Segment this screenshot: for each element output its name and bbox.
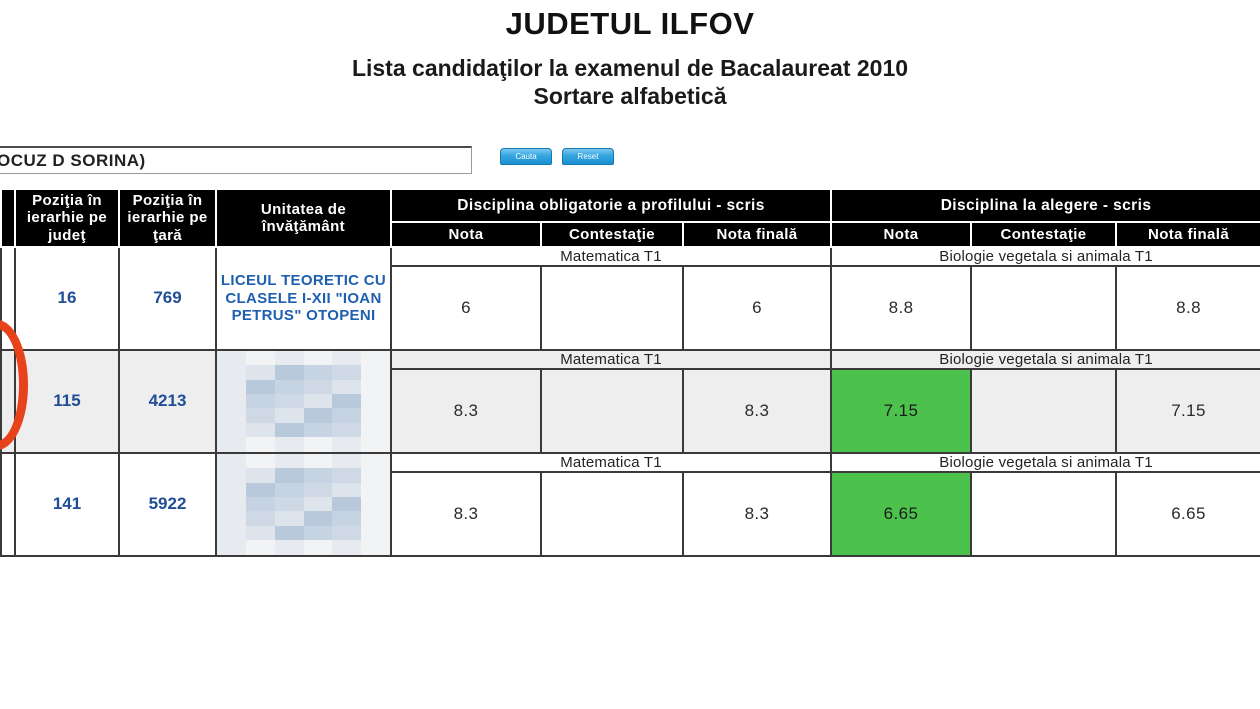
cell-optional-nota: 6.65: [831, 472, 971, 556]
redaction-mosaic: [217, 351, 390, 452]
cell-mandatory-nota: 8.3: [391, 472, 541, 556]
cell-optional-nota-finala: 7.15: [1116, 369, 1260, 453]
cell-mandatory-nota-finala: 8.3: [683, 369, 831, 453]
cell-mandatory-subject: Matematica T1: [391, 350, 831, 369]
cell-optional-contestatie: [971, 369, 1116, 453]
cell-rank-country: 5922: [119, 453, 216, 556]
header-mandatory-nota-finala[interactable]: Nota finală: [683, 222, 831, 246]
cell-mandatory-contestatie: [541, 266, 683, 350]
cell-mandatory-subject: Matematica T1: [391, 453, 831, 472]
cell-school[interactable]: LICEUL TEORETIC CU CLASELE I-XII "IOAN P…: [216, 247, 391, 350]
header-group-optional: Disciplina la alegere - scris: [831, 189, 1260, 222]
results-table: Poziţia în ierarhie pe judeţ Poziţia în …: [0, 188, 1260, 557]
cell-optional-nota: 7.15: [831, 369, 971, 453]
reset-button-label: Reset: [563, 149, 613, 164]
header-mandatory-contestatie[interactable]: Contestaţie: [541, 222, 683, 246]
page-subtitle-line1: Lista candidaţilor la examenul de Bacala…: [0, 54, 1260, 83]
reset-button[interactable]: Reset: [562, 148, 614, 165]
row-edge-spacer: [1, 453, 15, 556]
cell-school-redacted[interactable]: [216, 453, 391, 556]
cell-mandatory-contestatie: [541, 472, 683, 556]
table-header-row: Poziţia în ierarhie pe judeţ Poziţia în …: [1, 189, 1260, 222]
page-subtitle-line2: Sortare alfabetică: [0, 82, 1260, 111]
cell-optional-contestatie: [971, 266, 1116, 350]
cell-mandatory-nota: 8.3: [391, 369, 541, 453]
cell-mandatory-nota-finala: 6: [683, 266, 831, 350]
redaction-mosaic: [217, 454, 390, 555]
cell-optional-nota-finala: 8.8: [1116, 266, 1260, 350]
header-optional-nota[interactable]: Nota: [831, 222, 971, 246]
table-row: 1415922Matematica T1Biologie vegetala si…: [1, 453, 1260, 472]
cell-mandatory-nota: 6: [391, 266, 541, 350]
table-head: Poziţia în ierarhie pe judeţ Poziţia în …: [1, 189, 1260, 247]
table-body: 16769LICEUL TEORETIC CU CLASELE I-XII "I…: [1, 247, 1260, 556]
header-rank-county[interactable]: Poziţia în ierarhie pe judeţ: [15, 189, 119, 247]
header-edge-spacer: [1, 189, 15, 247]
cell-optional-contestatie: [971, 472, 1116, 556]
row-edge-spacer: [1, 350, 15, 453]
header-optional-contestatie[interactable]: Contestaţie: [971, 222, 1116, 246]
cell-school-redacted[interactable]: [216, 350, 391, 453]
table-row: 16769LICEUL TEORETIC CU CLASELE I-XII "I…: [1, 247, 1260, 266]
cell-rank-county: 141: [15, 453, 119, 556]
cell-optional-subject: Biologie vegetala si animala T1: [831, 453, 1260, 472]
table-row: 1154213Matematica T1Biologie vegetala si…: [1, 350, 1260, 369]
search-input-value: OCUZ D SORINA): [0, 151, 146, 171]
row-edge-spacer: [1, 247, 15, 350]
search-button[interactable]: Cauta: [500, 148, 552, 165]
header-optional-nota-finala[interactable]: Nota finală: [1116, 222, 1260, 246]
cell-mandatory-subject: Matematica T1: [391, 247, 831, 266]
header-school[interactable]: Unitatea de învăţământ: [216, 189, 391, 247]
page-header: JUDETUL ILFOV Lista candidaţilor la exam…: [0, 0, 1260, 111]
cell-mandatory-contestatie: [541, 369, 683, 453]
search-input[interactable]: OCUZ D SORINA): [0, 146, 472, 174]
cell-optional-subject: Biologie vegetala si animala T1: [831, 350, 1260, 369]
search-toolbar: OCUZ D SORINA) Cauta Reset: [0, 140, 1260, 185]
cell-optional-nota: 8.8: [831, 266, 971, 350]
cell-rank-county: 115: [15, 350, 119, 453]
page-title: JUDETUL ILFOV: [0, 6, 1260, 42]
cell-optional-subject: Biologie vegetala si animala T1: [831, 247, 1260, 266]
cell-mandatory-nota-finala: 8.3: [683, 472, 831, 556]
cell-optional-nota-finala: 6.65: [1116, 472, 1260, 556]
header-rank-country[interactable]: Poziţia în ierarhie pe ţară: [119, 189, 216, 247]
header-mandatory-nota[interactable]: Nota: [391, 222, 541, 246]
header-group-mandatory: Disciplina obligatorie a profilului - sc…: [391, 189, 831, 222]
search-button-label: Cauta: [501, 149, 551, 164]
cell-rank-country: 769: [119, 247, 216, 350]
cell-rank-county: 16: [15, 247, 119, 350]
cell-rank-country: 4213: [119, 350, 216, 453]
